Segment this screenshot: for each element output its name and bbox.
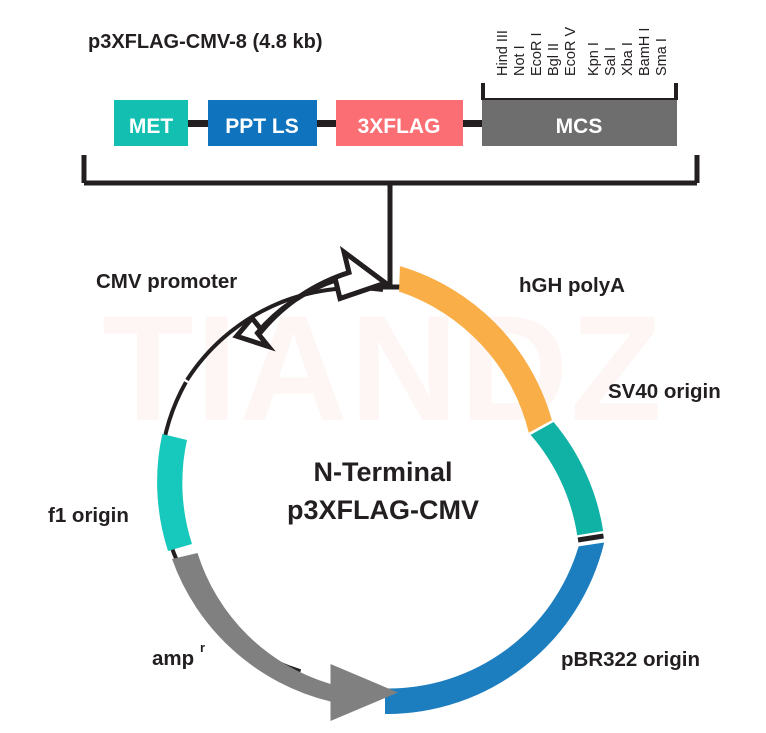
connector-met-pptls <box>186 120 208 127</box>
watermark-text: TIANDZ <box>102 284 664 452</box>
label-pbr322-origin: pBR322 origin <box>561 648 700 671</box>
segment-ppt-ls[interactable]: PPT LS <box>208 100 317 146</box>
connector-pptls-flag <box>315 120 337 127</box>
enzyme-label-sma-i: Sma I <box>654 38 670 76</box>
enzyme-label-ecor-i: EcoR I <box>529 32 545 76</box>
segment-ppt-ls-label: PPT LS <box>225 115 299 138</box>
enzyme-label-ecor-v: EcoR V <box>563 27 579 76</box>
figure-canvas: TIANDZ p3XFLAG-CMV-8 (4.8 kb) Hind III N… <box>0 0 766 733</box>
label-amp-superscript: r <box>200 640 205 655</box>
page-title: p3XFLAG-CMV-8 (4.8 kb) <box>88 31 322 53</box>
enzyme-label-hind-iii: Hind III <box>495 30 511 76</box>
plasmid-map-figure: TIANDZ p3XFLAG-CMV-8 (4.8 kb) Hind III N… <box>0 0 766 733</box>
label-hgh-polya: hGH polyA <box>519 274 625 297</box>
label-cmv-promoter: CMV promoter <box>96 270 237 293</box>
plasmid-center-line-1: N-Terminal <box>313 457 452 487</box>
label-amp-base: amp <box>152 647 194 670</box>
segment-3xflag-label: 3XFLAG <box>358 115 441 138</box>
segment-mcs[interactable]: MCS <box>482 100 677 146</box>
connector-flag-mcs <box>461 120 483 127</box>
enzyme-label-xba-i: Xba I <box>620 42 636 76</box>
enzyme-label-kpn-i: Kpn I <box>586 42 602 76</box>
enzyme-label-not-i: Not I <box>512 45 528 76</box>
enzyme-label-sal-i: Sal I <box>603 47 619 76</box>
segment-3xflag[interactable]: 3XFLAG <box>336 100 463 146</box>
segment-met[interactable]: MET <box>114 100 188 146</box>
plasmid-center-line-2: p3XFLAG-CMV <box>287 495 479 525</box>
enzyme-label-bamh-i: BamH I <box>637 28 653 76</box>
label-f1-origin: f1 origin <box>48 504 129 527</box>
segment-mcs-label: MCS <box>556 115 603 138</box>
segment-met-label: MET <box>129 115 174 138</box>
label-sv40-origin: SV40 origin <box>608 380 721 403</box>
enzyme-label-bgl-ii: Bgl II <box>546 43 562 76</box>
